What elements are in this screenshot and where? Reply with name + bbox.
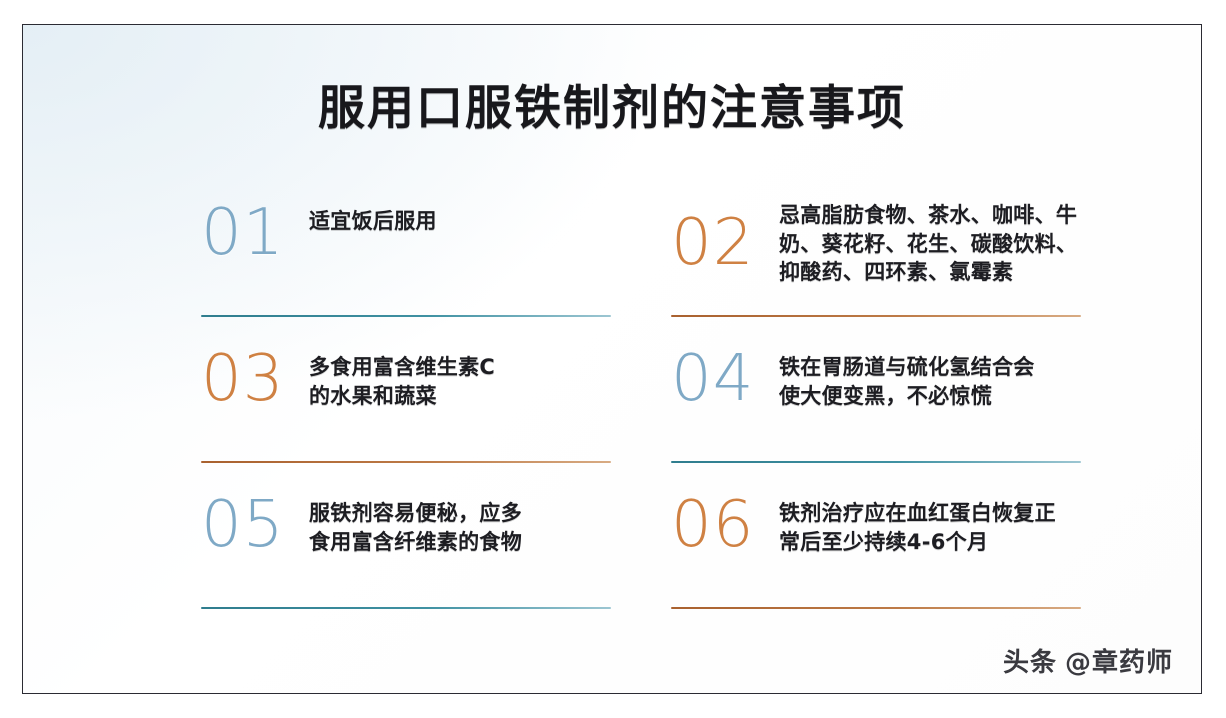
tip-item-row: 02忌高脂肪食物、茶水、咖啡、牛奶、葵花籽、花生、碳酸饮料、抑酸药、四环素、氯霉… — [671, 201, 1081, 307]
tip-text: 多食用富含维生素C的水果和蔬菜 — [309, 347, 611, 410]
tip-underline — [201, 461, 611, 463]
tip-underline — [201, 315, 611, 317]
tip-text-line: 忌高脂肪食物、茶水、咖啡、牛 — [779, 201, 1081, 230]
tip-item-05: 05服铁剂容易便秘，应多食用富含纤维素的食物 — [201, 493, 611, 615]
tip-item-row: 04铁在胃肠道与硫化氢结合会使大便变黑，不必惊慌 — [671, 347, 1081, 447]
tip-text-line: 铁剂治疗应在血红蛋白恢复正 — [779, 499, 1081, 528]
tip-item-01: 01适宜饭后服用 — [201, 201, 611, 323]
tip-text-line: 食用富含纤维素的食物 — [309, 528, 611, 557]
tip-number: 01 — [201, 201, 309, 264]
tip-text: 忌高脂肪食物、茶水、咖啡、牛奶、葵花籽、花生、碳酸饮料、抑酸药、四环素、氯霉素 — [779, 201, 1081, 287]
page-title: 服用口服铁制剂的注意事项 — [23, 83, 1201, 136]
watermark-brand: 头条 — [1003, 648, 1057, 678]
tip-text-line: 服铁剂容易便秘，应多 — [309, 499, 611, 528]
tip-text-line: 铁在胃肠道与硫化氢结合会 — [779, 353, 1081, 382]
tip-text-line: 常后至少持续4-6个月 — [779, 528, 1081, 557]
tip-underline — [671, 607, 1081, 609]
watermark-handle: @章药师 — [1065, 648, 1173, 678]
tip-text-line: 抑酸药、四环素、氯霉素 — [779, 258, 1081, 287]
tip-item-row: 01适宜饭后服用 — [201, 201, 611, 301]
tip-text: 铁在胃肠道与硫化氢结合会使大便变黑，不必惊慌 — [779, 347, 1081, 410]
tip-item-row: 06铁剂治疗应在血红蛋白恢复正常后至少持续4-6个月 — [671, 493, 1081, 593]
tip-number: 04 — [671, 347, 779, 410]
watermark: 头条@章药师 — [1003, 642, 1173, 679]
tip-underline — [671, 461, 1081, 463]
tip-item-02: 02忌高脂肪食物、茶水、咖啡、牛奶、葵花籽、花生、碳酸饮料、抑酸药、四环素、氯霉… — [671, 201, 1081, 323]
tip-number: 06 — [671, 493, 779, 556]
tip-item-row: 03多食用富含维生素C的水果和蔬菜 — [201, 347, 611, 447]
tip-item-04: 04铁在胃肠道与硫化氢结合会使大便变黑，不必惊慌 — [671, 347, 1081, 469]
tip-text: 服铁剂容易便秘，应多食用富含纤维素的食物 — [309, 493, 611, 556]
tip-text: 铁剂治疗应在血红蛋白恢复正常后至少持续4-6个月 — [779, 493, 1081, 556]
slide-frame: 服用口服铁制剂的注意事项 01适宜饭后服用02忌高脂肪食物、茶水、咖啡、牛奶、葵… — [22, 24, 1202, 694]
tip-text-line: 使大便变黑，不必惊慌 — [779, 382, 1081, 411]
tips-grid: 01适宜饭后服用02忌高脂肪食物、茶水、咖啡、牛奶、葵花籽、花生、碳酸饮料、抑酸… — [201, 201, 1081, 615]
tip-item-row: 05服铁剂容易便秘，应多食用富含纤维素的食物 — [201, 493, 611, 593]
tip-number: 03 — [201, 347, 309, 410]
tip-number: 02 — [671, 201, 779, 274]
tip-underline — [201, 607, 611, 609]
tip-item-06: 06铁剂治疗应在血红蛋白恢复正常后至少持续4-6个月 — [671, 493, 1081, 615]
tip-number: 05 — [201, 493, 309, 556]
tip-text-line: 适宜饭后服用 — [309, 207, 611, 236]
tip-text: 适宜饭后服用 — [309, 201, 611, 236]
tip-text-line: 的水果和蔬菜 — [309, 382, 611, 411]
tip-text-line: 多食用富含维生素C — [309, 353, 611, 382]
tip-text-line: 奶、葵花籽、花生、碳酸饮料、 — [779, 230, 1081, 259]
tip-item-03: 03多食用富含维生素C的水果和蔬菜 — [201, 347, 611, 469]
tip-underline — [671, 315, 1081, 317]
